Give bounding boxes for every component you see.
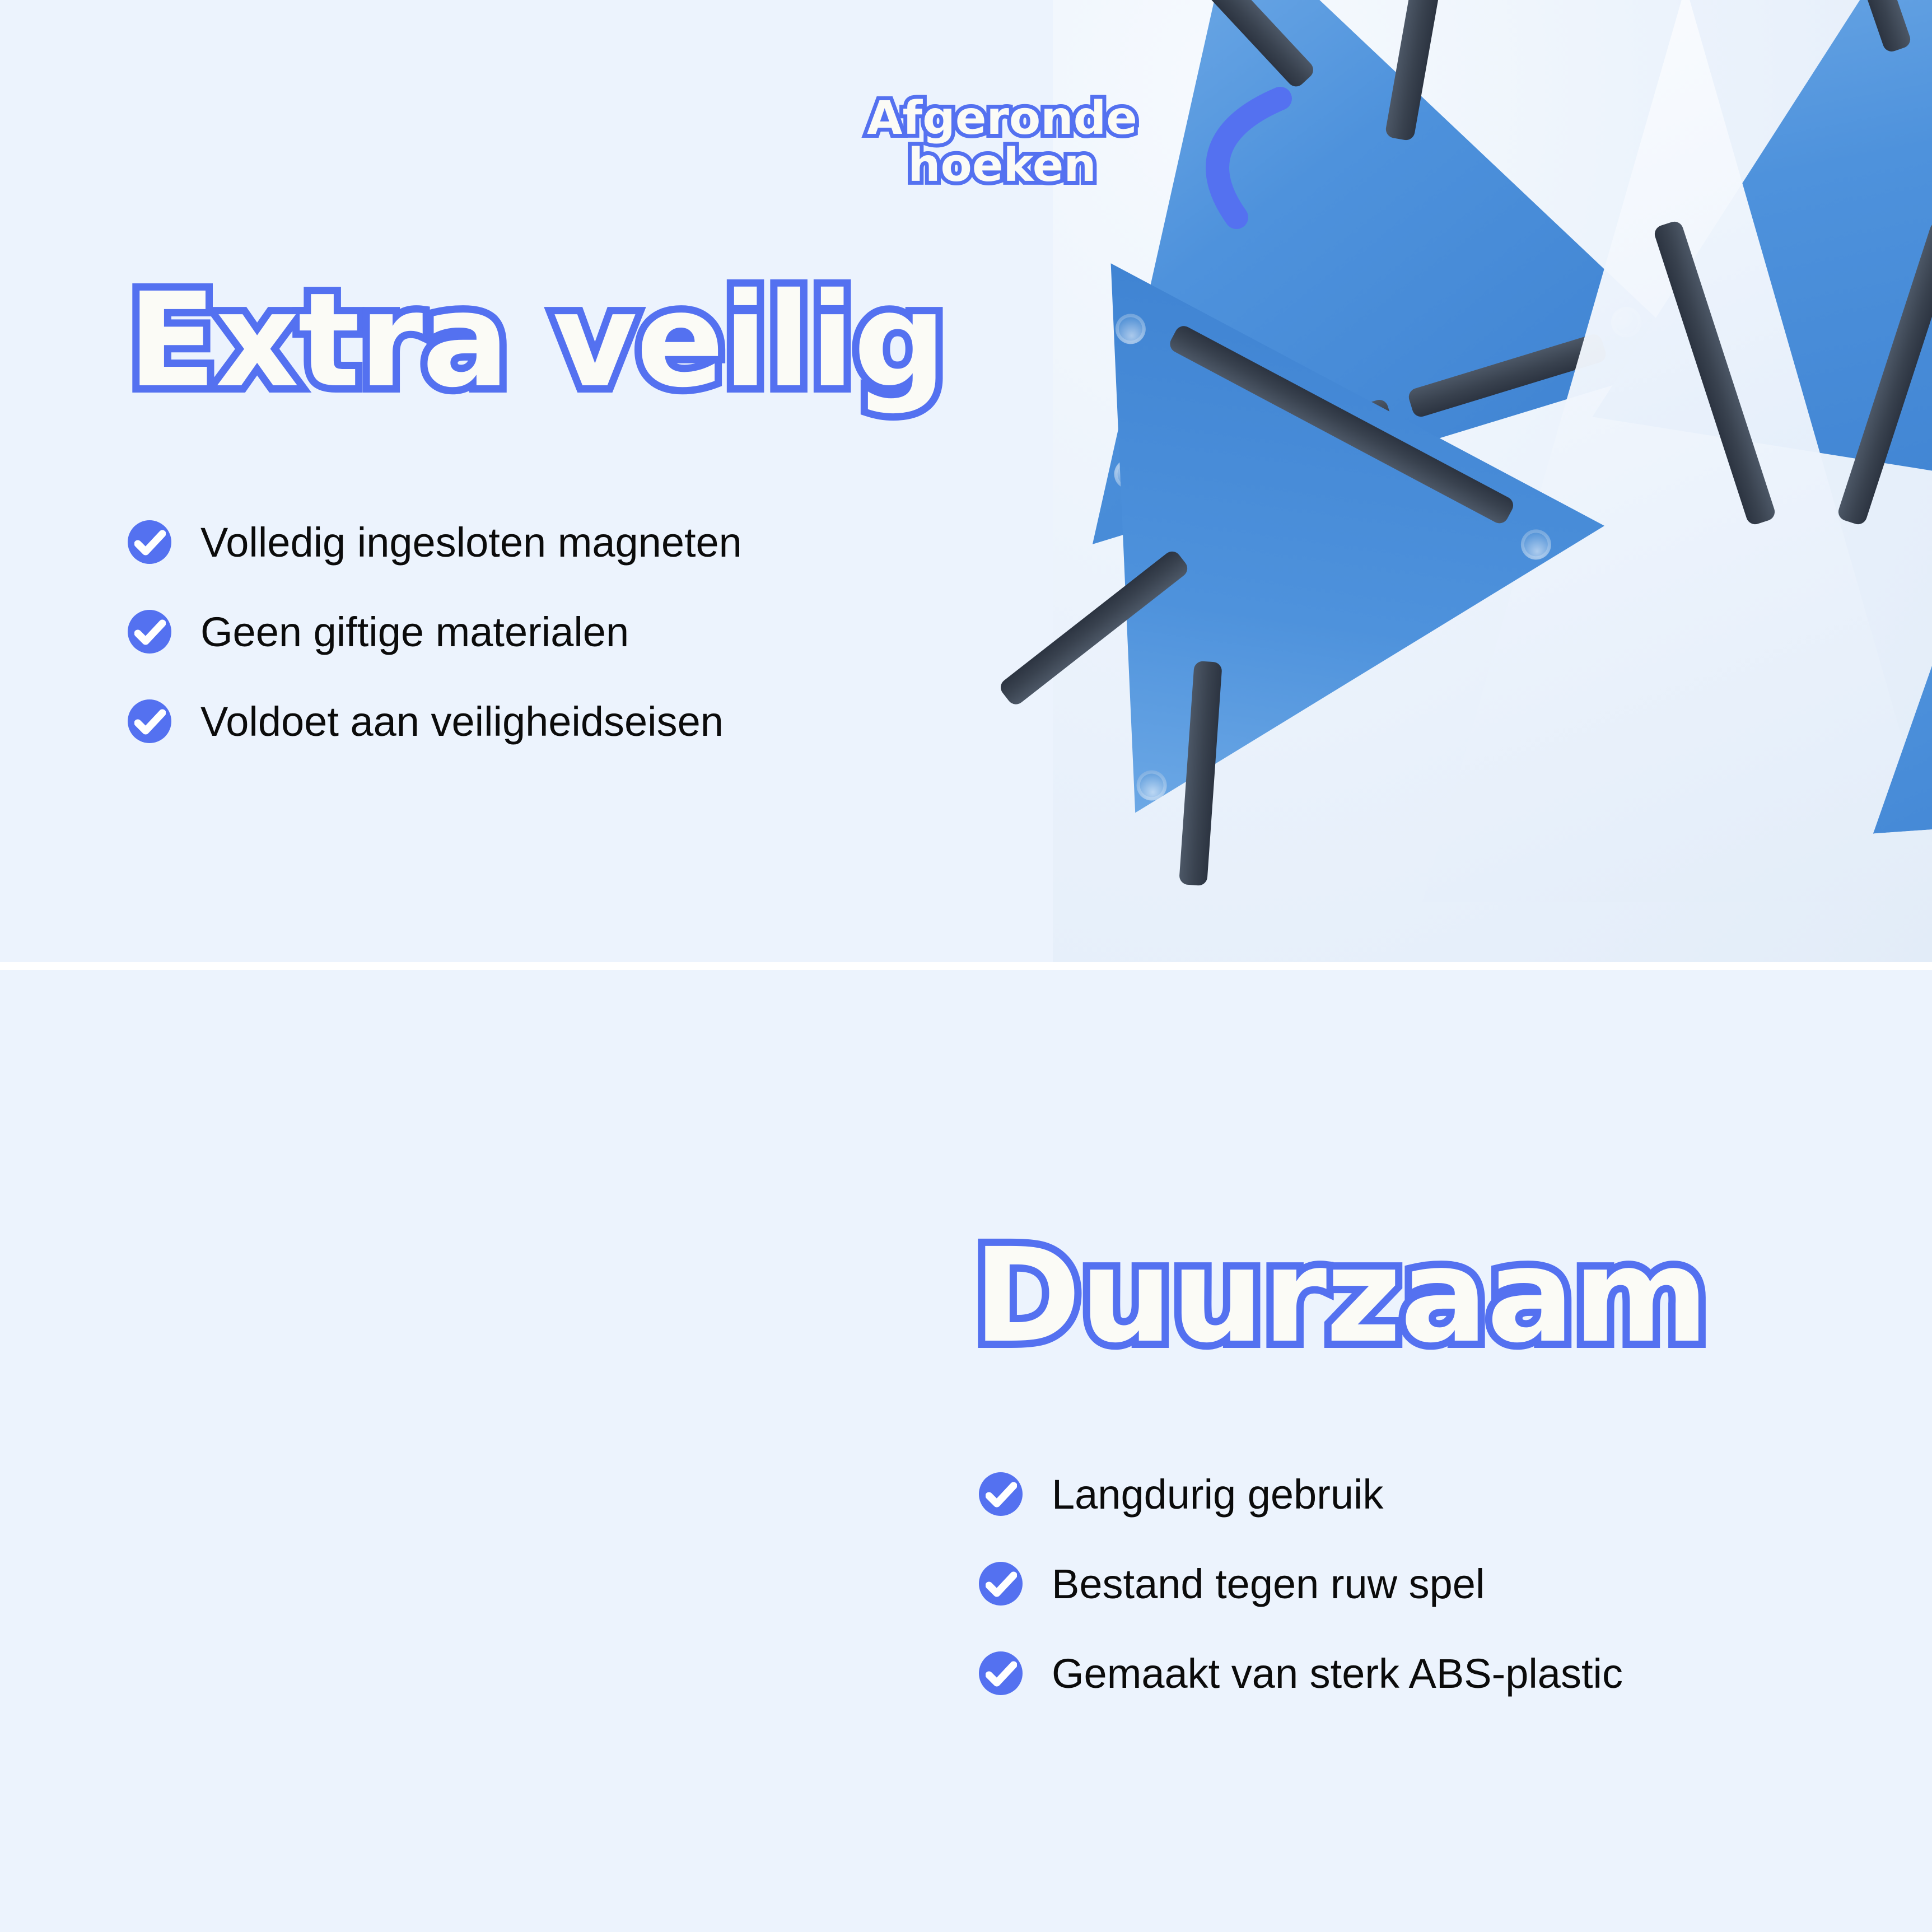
panel-divider bbox=[0, 962, 1932, 970]
check-circle-icon bbox=[128, 520, 171, 564]
panel-extra-veilig: Afgeronde hoeken Extra veilig Volledig i… bbox=[0, 0, 1932, 962]
curved-bracket-pointer-icon bbox=[1170, 84, 1305, 235]
check-circle-icon bbox=[128, 699, 171, 743]
check-circle-icon bbox=[979, 1651, 1023, 1695]
list-item: Geen giftige materialen bbox=[128, 587, 742, 676]
list-item: Langdurig gebruik bbox=[979, 1449, 1623, 1539]
feature-list-safety: Volledig ingesloten magneten Geen giftig… bbox=[128, 497, 742, 766]
list-item-label: Bestand tegen ruw spel bbox=[1052, 1560, 1485, 1608]
list-item-label: Gemaakt van sterk ABS-plastic bbox=[1052, 1650, 1623, 1697]
list-item: Voldoet aan veiligheidseisen bbox=[128, 676, 742, 766]
panel-duurzaam: ABS-plastic Duurzaam Langdurig gebruik B… bbox=[0, 970, 1932, 1932]
list-item-label: Voldoet aan veiligheidseisen bbox=[200, 698, 724, 745]
check-circle-icon bbox=[979, 1472, 1023, 1516]
list-item-label: Volledig ingesloten magneten bbox=[200, 519, 742, 566]
list-item-label: Geen giftige materialen bbox=[200, 608, 629, 656]
list-item: Volledig ingesloten magneten bbox=[128, 497, 742, 587]
check-circle-icon bbox=[128, 610, 171, 654]
page-title-duurzaam: Duurzaam bbox=[973, 1231, 1707, 1361]
list-item-label: Langdurig gebruik bbox=[1052, 1471, 1383, 1518]
callout-label-afgeronde-hoeken: Afgeronde hoeken bbox=[867, 95, 1137, 189]
page-title-extra-veilig: Extra veilig bbox=[128, 276, 945, 405]
feature-list-durability: Langdurig gebruik Bestand tegen ruw spel… bbox=[979, 1449, 1623, 1718]
check-circle-icon bbox=[979, 1562, 1023, 1606]
list-item: Gemaakt van sterk ABS-plastic bbox=[979, 1628, 1623, 1718]
product-feature-graphic: Afgeronde hoeken Extra veilig Volledig i… bbox=[0, 0, 1932, 1932]
list-item: Bestand tegen ruw spel bbox=[979, 1539, 1623, 1628]
